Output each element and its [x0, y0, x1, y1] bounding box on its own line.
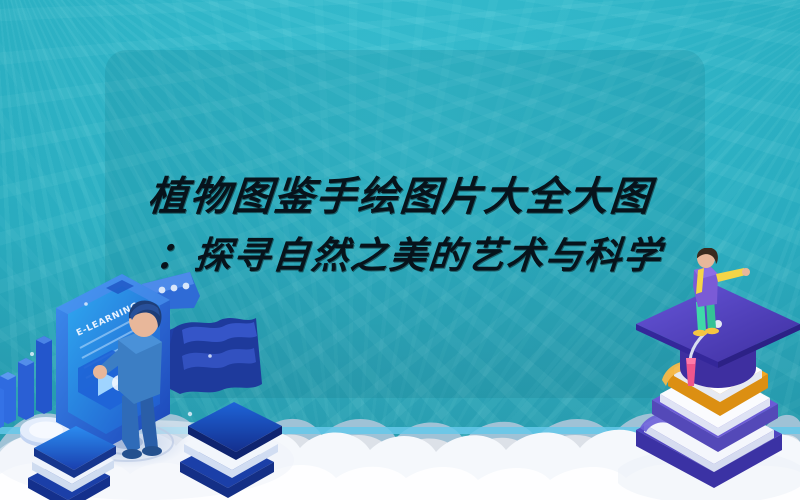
graduation-cap-icon: [636, 286, 800, 388]
hero-banner: E-LEARNING: [0, 0, 800, 500]
illustration-right-graduation: [618, 248, 800, 500]
illustration-left-elearning: E-LEARNING: [0, 244, 294, 500]
hand: [93, 365, 107, 379]
bar-chart: [0, 336, 52, 430]
